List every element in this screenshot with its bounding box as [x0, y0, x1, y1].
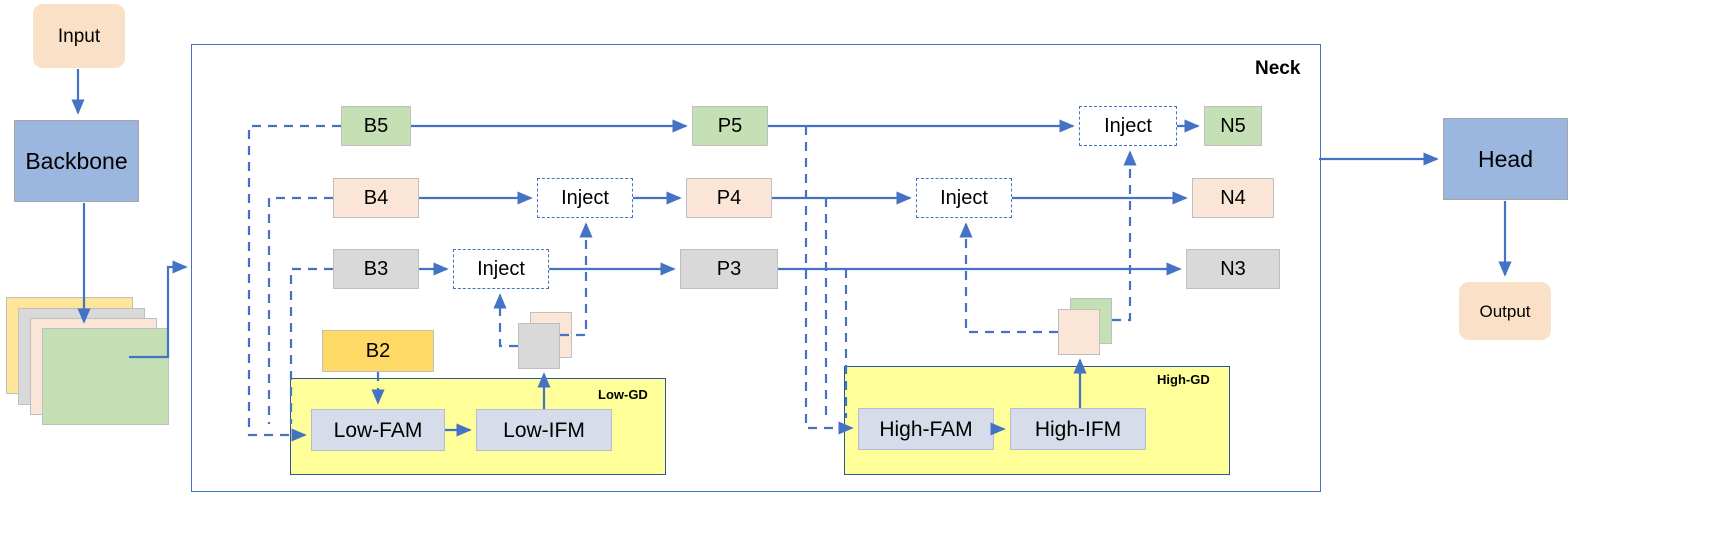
high-ifm-module: High-IFM	[1010, 408, 1146, 450]
high-gd-title: High-GD	[1157, 372, 1210, 387]
node-p5: P5	[692, 106, 768, 146]
node-p3: P3	[680, 249, 778, 289]
node-b3: B3	[333, 249, 419, 289]
node-b2: B2	[322, 330, 434, 372]
output-node: Output	[1459, 282, 1551, 340]
head-node: Head	[1443, 118, 1568, 200]
high-gd-stack-front	[1058, 309, 1100, 355]
diagram-canvas: Input Backbone Head Output Neck B5 B4 B3…	[0, 0, 1723, 539]
inject-n5[interactable]: Inject	[1079, 106, 1177, 146]
neck-title: Neck	[1255, 58, 1300, 80]
node-p4: P4	[686, 178, 772, 218]
high-fam-module: High-FAM	[858, 408, 994, 450]
low-gd-stack-front	[518, 323, 560, 369]
inject-p4[interactable]: Inject	[537, 178, 633, 218]
input-node: Input	[33, 4, 125, 68]
inject-n4[interactable]: Inject	[916, 178, 1012, 218]
node-b4: B4	[333, 178, 419, 218]
low-gd-title: Low-GD	[598, 387, 648, 402]
low-fam-module: Low-FAM	[311, 409, 445, 451]
node-n4: N4	[1192, 178, 1274, 218]
feature-sheet-4	[42, 328, 169, 425]
inject-p3[interactable]: Inject	[453, 249, 549, 289]
node-b5: B5	[341, 106, 411, 146]
node-n5: N5	[1204, 106, 1262, 146]
backbone-node: Backbone	[14, 120, 139, 202]
low-ifm-module: Low-IFM	[476, 409, 612, 451]
node-n3: N3	[1186, 249, 1280, 289]
